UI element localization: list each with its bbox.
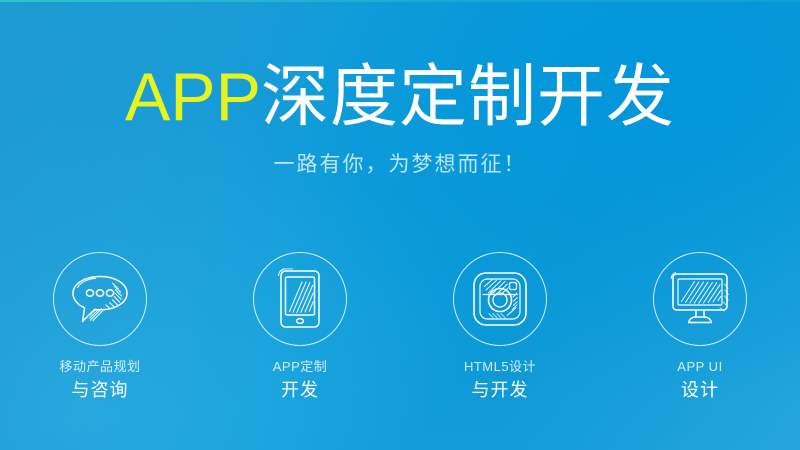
icon-ring-app-development <box>253 252 347 346</box>
service-item-html5[interactable]: HTML5设计 与开发 <box>400 252 600 399</box>
service-label-line1: 移动产品规划 <box>59 360 140 373</box>
service-label-line1: APP定制 <box>273 360 328 373</box>
service-item-consulting[interactable]: 移动产品规划 与咨询 <box>0 252 200 399</box>
service-label-ui-design: APP UI 设计 <box>677 360 722 399</box>
service-label-line1: HTML5设计 <box>464 360 536 373</box>
service-list: 移动产品规划 与咨询 <box>0 252 800 399</box>
page-title-highlight: APP <box>125 59 261 135</box>
top-accent-line <box>0 0 800 2</box>
page-subtitle: 一路有你，为梦想而征！ <box>0 150 800 180</box>
tablet-icon <box>274 267 326 331</box>
icon-ring-html5 <box>453 252 547 346</box>
service-label-html5: HTML5设计 与开发 <box>464 360 536 399</box>
camera-icon <box>469 269 531 329</box>
service-label-line1: APP UI <box>677 360 722 373</box>
icon-ring-ui-design <box>653 252 747 346</box>
service-item-app-development[interactable]: APP定制 开发 <box>200 252 400 399</box>
service-label-line2: 与咨询 <box>59 381 140 399</box>
service-label-line2: 设计 <box>677 381 722 399</box>
page-title: APP深度定制开发 <box>0 58 800 136</box>
icon-ring-consulting <box>53 252 147 346</box>
desktop-monitor-icon <box>667 270 733 328</box>
speech-bubble-icon <box>68 270 132 328</box>
service-label-consulting: 移动产品规划 与咨询 <box>59 360 140 399</box>
service-label-app-development: APP定制 开发 <box>273 360 328 399</box>
service-label-line2: 与开发 <box>464 381 536 399</box>
page-title-rest: 深度定制开发 <box>261 59 675 135</box>
service-label-line2: 开发 <box>273 381 328 399</box>
service-item-ui-design[interactable]: APP UI 设计 <box>600 252 800 399</box>
promo-banner: APP深度定制开发 一路有你，为梦想而征！ <box>0 0 800 450</box>
